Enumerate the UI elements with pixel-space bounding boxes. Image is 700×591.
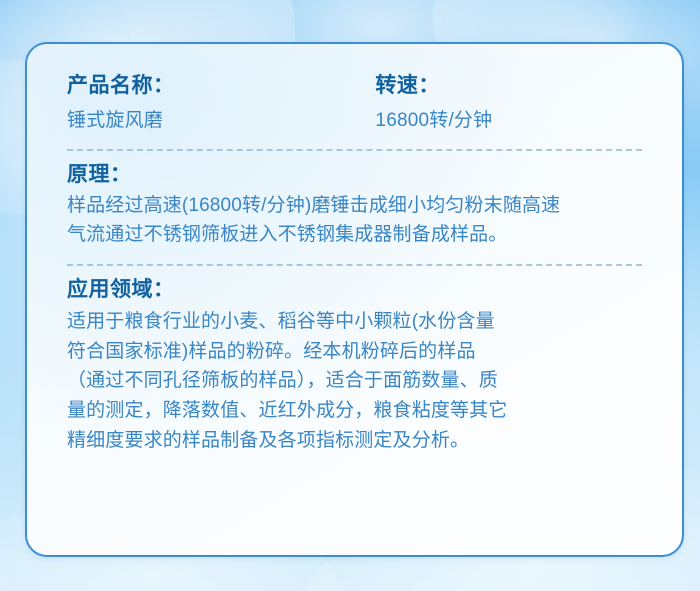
application-line: 符合国家标准)样品的粉碎。经本机粉碎后的样品: [67, 337, 654, 367]
divider-2: [67, 264, 642, 266]
spec-card: 产品名称： 锤式旋风磨 转速： 16800转/分钟 原理： 样品经过高速(168…: [25, 42, 684, 557]
rotation-speed-field: 转速： 16800转/分钟: [375, 72, 654, 135]
application-line: （通过不同孔径筛板的样品），适合于面筋数量、质: [67, 366, 654, 396]
principle-paragraph: 样品经过高速(16800转/分钟)磨锤击成细小均匀粉末随高速 气流通过不锈钢筛板…: [67, 192, 654, 250]
spec-row-top: 产品名称： 锤式旋风磨 转速： 16800转/分钟: [55, 44, 654, 135]
application-paragraph: 适用于粮食行业的小麦、稻谷等中小颗粒(水份含量 符合国家标准)样品的粉碎。经本机…: [67, 307, 654, 455]
product-name-heading: 产品名称：: [67, 72, 375, 101]
product-name-field: 产品名称： 锤式旋风磨: [55, 72, 375, 135]
principle-heading: 原理：: [67, 161, 654, 190]
application-line: 精细度要求的样品制备及各项指标测定及分析。: [67, 426, 654, 456]
application-section: 应用领域： 适用于粮食行业的小麦、稻谷等中小颗粒(水份含量 符合国家标准)样品的…: [55, 276, 654, 455]
product-name-value: 锤式旋风磨: [67, 107, 375, 136]
principle-section: 原理： 样品经过高速(16800转/分钟)磨锤击成细小均匀粉末随高速 气流通过不…: [55, 161, 654, 250]
rotation-speed-heading: 转速：: [375, 72, 654, 101]
card-body: 产品名称： 锤式旋风磨 转速： 16800转/分钟 原理： 样品经过高速(168…: [27, 44, 682, 455]
application-heading: 应用领域：: [67, 276, 654, 305]
divider-1: [67, 149, 642, 151]
application-line: 适用于粮食行业的小麦、稻谷等中小颗粒(水份含量: [67, 307, 654, 337]
principle-line: 气流通过不锈钢筛板进入不锈钢集成器制备成样品。: [67, 221, 654, 250]
product-spec-poster: 产品名称： 锤式旋风磨 转速： 16800转/分钟 原理： 样品经过高速(168…: [0, 0, 700, 591]
rotation-speed-value: 16800转/分钟: [375, 107, 654, 136]
principle-line: 样品经过高速(16800转/分钟)磨锤击成细小均匀粉末随高速: [67, 192, 654, 221]
application-line: 量的测定，降落数值、近红外成分，粮食粘度等其它: [67, 396, 654, 426]
